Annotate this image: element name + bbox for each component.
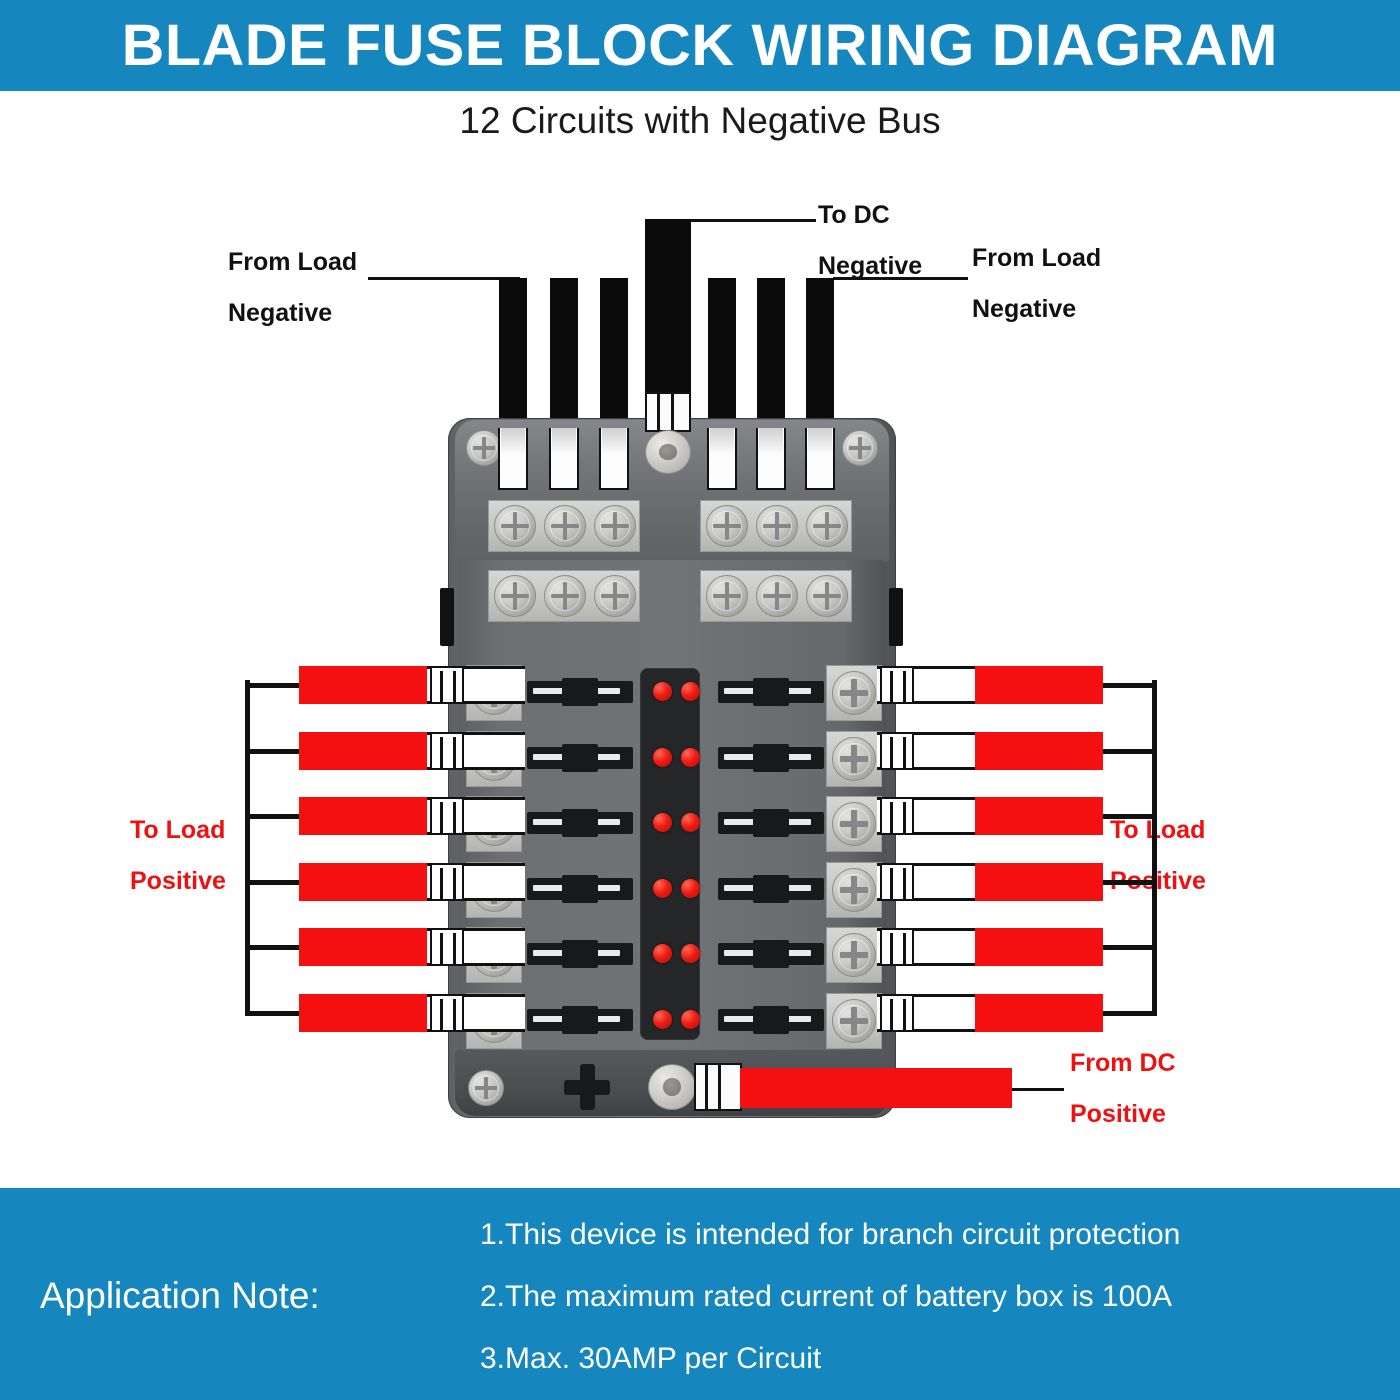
fuse-slot-left-3 [527,812,633,834]
dc-positive-ferrule [694,1063,742,1111]
lug-crimp-tick [453,802,456,834]
lug-crimp-tick [440,999,443,1031]
lug-crimp-tick [903,802,906,834]
screw-cross-vertical [851,876,856,905]
screw-cross-horizontal [840,756,869,761]
ferrule-band [718,1065,721,1109]
negative-bus-screw-r1-c2 [544,505,586,547]
screw-cross-horizontal [813,594,840,599]
fuse-slot-right-4 [718,878,824,900]
leader-line-from-load-right [833,277,968,280]
lug-crimp-tick [890,933,893,965]
lug-crimp-tick [440,933,443,965]
lug-crimp-tick [453,933,456,965]
load-wire-lug-right-5 [880,928,914,966]
screw-cross-horizontal [551,594,578,599]
load-wire-lug-right-1 [880,666,914,704]
load-wire-red-left-2 [299,732,429,770]
screw-cross-vertical [484,1077,487,1099]
lug-crimp-tick [890,999,893,1031]
screw-cross-horizontal [601,594,628,599]
lug-crimp-tick [890,868,893,900]
fuse-blade-contact [724,1016,756,1022]
lug-crimp-tick [903,737,906,769]
screw-cross-horizontal [840,690,869,695]
fuse-slot-left-1 [527,681,633,703]
screw-cross-vertical [513,512,518,539]
led-indicator-r1-1 [653,682,672,701]
stud-hole [659,444,677,461]
negative-bus-screw-r2-c6 [806,575,848,617]
screw-cross-vertical [851,679,856,708]
mounting-screw-bottom-left [468,1070,504,1106]
load-branch-line-right-5 [1101,945,1157,950]
fuse-blade-contact [533,885,565,891]
label-line-2: Negative [972,294,1101,325]
fuse-terminal-screw-right-5 [832,933,876,977]
screw-cross-horizontal [501,594,528,599]
negative-bus-screw-r2-c1 [494,575,536,617]
load-bus-line-right [1152,680,1157,1013]
label-from-load-negative-left: From Load Negative [228,247,357,328]
application-note-item: 3.Max. 30AMP per Circuit [480,1342,1380,1376]
lug-crimp-tick [453,999,456,1031]
label-line-2: Positive [130,866,226,897]
negative-bus-screw-r1-c1 [494,505,536,547]
lug-crimp-tick [440,802,443,834]
ferrule-band [657,394,660,430]
load-branch-line-left-2 [245,749,301,754]
lug-crimp-tick [453,671,456,703]
label-to-dc-negative: To DC Negative [818,200,922,281]
screw-cross-vertical [563,512,568,539]
load-wire-lug-right-6 [880,994,914,1032]
load-wire-lug-left-4 [430,863,464,901]
fuse-blade-contact [724,819,756,825]
load-wire-lug-left-1 [430,666,464,704]
fuse-blade-contact [724,950,756,956]
load-branch-line-right-2 [1101,749,1157,754]
lug-crimp-tick [903,671,906,703]
lug-crimp-tick [440,737,443,769]
screw-cross-horizontal [501,524,528,529]
load-wire-red-right-5 [973,928,1103,966]
fuse-slot-right-3 [718,812,824,834]
fuse-blade-contact [533,819,565,825]
fuse-blade-contact [533,1016,565,1022]
stud-hole [663,1078,681,1096]
lug-crimp-tick [453,737,456,769]
label-line-1: From DC [1070,1048,1176,1079]
fuse-blade-contact [724,754,756,760]
lug-crimp-tick [890,737,893,769]
load-wire-red-right-3 [973,797,1103,835]
lug-crimp-tick [440,671,443,703]
load-wire-lug-left-6 [430,994,464,1032]
screw-cross-horizontal [840,887,869,892]
load-wire-red-right-6 [973,994,1103,1032]
fuse-terminal-screw-right-2 [832,737,876,781]
load-branch-line-left-5 [245,945,301,950]
application-note-list: 1.This device is intended for branch cir… [480,1218,1380,1400]
screw-cross-vertical [513,582,518,609]
label-line-1: To Load [130,815,226,846]
fuse-blade-contact [533,950,565,956]
mounting-screw-top-right [842,430,878,466]
led-indicator-r3-2 [681,813,700,832]
label-line-1: To Load [1110,815,1206,846]
screw-cross-horizontal [813,524,840,529]
housing-side-tab-right [889,588,903,646]
load-branch-line-left-6 [245,1011,301,1016]
led-indicator-r2-1 [653,748,672,767]
screw-cross-vertical [851,745,856,774]
screw-cross-vertical [851,1007,856,1036]
label-line-2: Negative [228,298,357,329]
led-indicator-r1-2 [681,682,700,701]
screw-cross-horizontal [601,524,628,529]
fuse-blade-contact [533,754,565,760]
lug-crimp-tick [890,802,893,834]
fuse-slot-left-6 [527,1009,633,1031]
load-branch-line-left-1 [245,683,301,688]
negative-bus-screw-r2-c2 [544,575,586,617]
negative-wire-ferrule-3 [599,428,629,490]
load-wire-red-left-3 [299,797,429,835]
fuse-slot-lip [562,678,598,706]
label-line-1: From Load [972,243,1101,274]
fuse-slot-lip [753,809,789,837]
page-title: BLADE FUSE BLOCK WIRING DIAGRAM [122,12,1278,79]
fuse-slot-lip [753,875,789,903]
negative-wire-ferrule-6 [805,428,835,490]
led-indicator-strip [640,668,700,1040]
dc-negative-cable [645,219,691,396]
negative-bus-screw-r1-c6 [806,505,848,547]
load-wire-red-left-1 [299,666,429,704]
label-from-load-negative-right: From Load Negative [972,243,1101,324]
fuse-slot-left-2 [527,747,633,769]
screw-cross-horizontal [713,594,740,599]
fuse-slot-left-4 [527,878,633,900]
dc-negative-stud [645,430,691,474]
screw-cross-vertical [613,582,618,609]
label-line-2: Positive [1070,1099,1176,1130]
load-wire-red-left-4 [299,863,429,901]
fuse-blade-contact [724,688,756,694]
dc-positive-cable [740,1068,1012,1108]
mounting-screw-top-left [466,430,502,466]
negative-wire-ferrule-4 [707,428,737,490]
lug-crimp-tick [903,933,906,965]
screw-cross-horizontal [475,1086,497,1089]
fuse-terminal-screw-right-6 [832,999,876,1043]
lug-crimp-tick [903,999,906,1031]
fuse-slot-lip [562,1006,598,1034]
screw-cross-vertical [825,512,830,539]
screw-cross-vertical [851,941,856,970]
load-wire-lug-left-2 [430,732,464,770]
fuse-terminal-screw-right-4 [832,868,876,912]
load-branch-line-left-3 [245,814,301,819]
screw-cross-horizontal [763,594,790,599]
load-branch-line-right-3 [1101,814,1157,819]
ferrule-band [705,1065,708,1109]
screw-cross-vertical [725,582,730,609]
lug-crimp-tick [903,868,906,900]
led-indicator-r3-1 [653,813,672,832]
screw-cross-horizontal [840,952,869,957]
screw-cross-vertical [825,582,830,609]
negative-bus-screw-r1-c3 [594,505,636,547]
screw-cross-vertical [613,512,618,539]
screw-cross-horizontal [763,524,790,529]
screw-cross-vertical [563,582,568,609]
negative-bus-screw-r2-c3 [594,575,636,617]
plus-vertical [580,1064,595,1110]
fuse-slot-right-2 [718,747,824,769]
screw-cross-horizontal [473,446,495,449]
load-wire-red-left-6 [299,994,429,1032]
screw-cross-horizontal [551,524,578,529]
load-branch-line-right-1 [1101,683,1157,688]
lug-crimp-tick [440,868,443,900]
load-wire-red-left-5 [299,928,429,966]
load-wire-red-right-1 [973,666,1103,704]
load-wire-lug-right-3 [880,797,914,835]
load-wire-lug-left-5 [430,928,464,966]
negative-bus-screw-r2-c4 [706,575,748,617]
fuse-slot-right-5 [718,943,824,965]
load-wire-red-right-4 [973,863,1103,901]
load-wire-lug-right-4 [880,863,914,901]
led-indicator-r2-2 [681,748,700,767]
screw-cross-vertical [482,437,485,459]
negative-bus-screw-r2-c5 [756,575,798,617]
screw-cross-horizontal [840,821,869,826]
negative-wire-ferrule-1 [498,428,528,490]
header-banner: BLADE FUSE BLOCK WIRING DIAGRAM [0,0,1400,91]
application-note-item: 2.The maximum rated current of battery b… [480,1280,1380,1314]
screw-cross-horizontal [713,524,740,529]
screw-cross-vertical [775,582,780,609]
led-indicator-r6-1 [653,1010,672,1029]
label-line-1: From Load [228,247,357,278]
leader-line-from-load-left [368,277,520,280]
leader-line-to-dc-negative [688,219,816,222]
led-indicator-r5-1 [653,944,672,963]
screw-cross-vertical [851,810,856,839]
lug-crimp-tick [890,671,893,703]
fuse-terminal-screw-right-3 [832,802,876,846]
negative-bus-screw-r1-c5 [756,505,798,547]
led-indicator-r4-1 [653,879,672,898]
negative-wire-ferrule-2 [549,428,579,490]
fuse-slot-right-1 [718,681,824,703]
housing-side-tab-left [440,588,454,646]
negative-wire-ferrule-5 [756,428,786,490]
load-wire-lug-right-2 [880,732,914,770]
load-branch-line-right-4 [1101,880,1157,885]
screw-cross-horizontal [849,446,871,449]
fuse-blade-contact [533,688,565,694]
led-indicator-r6-2 [681,1010,700,1029]
screw-cross-vertical [858,437,861,459]
dc-positive-stud [648,1064,696,1110]
diagram-page: BLADE FUSE BLOCK WIRING DIAGRAM 12 Circu… [0,0,1400,1400]
dc-negative-ferrule [645,392,691,432]
led-indicator-r4-2 [681,879,700,898]
led-indicator-r5-2 [681,944,700,963]
screw-cross-vertical [725,512,730,539]
application-note-item: 1.This device is intended for branch cir… [480,1218,1380,1252]
lug-crimp-tick [453,868,456,900]
ferrule-band [671,394,674,430]
application-note-label: Application Note: [40,1275,460,1317]
screw-cross-vertical [775,512,780,539]
load-branch-line-left-4 [245,880,301,885]
fuse-slot-lip [753,744,789,772]
fuse-terminal-screw-right-1 [832,671,876,715]
fuse-slot-lip [753,1006,789,1034]
fuse-slot-lip [753,940,789,968]
fuse-blade-contact [724,885,756,891]
load-branch-line-right-6 [1101,1011,1157,1016]
fuse-slot-left-5 [527,943,633,965]
leader-line-from-dc-positive [1012,1088,1064,1091]
load-bus-line-left [245,680,250,1013]
load-wire-lug-left-3 [430,797,464,835]
screw-cross-horizontal [840,1018,869,1023]
label-to-load-positive-left: To Load Positive [130,815,226,896]
fuse-slot-lip [562,940,598,968]
positive-polarity-mark [564,1064,610,1110]
negative-bus-screw-r1-c4 [706,505,748,547]
label-from-dc-positive: From DC Positive [1070,1048,1176,1129]
fuse-slot-right-6 [718,1009,824,1031]
fuse-slot-lip [562,809,598,837]
fuse-slot-lip [753,678,789,706]
fuse-slot-lip [562,875,598,903]
label-line-1: To DC [818,200,922,231]
fuse-slot-lip [562,744,598,772]
load-wire-red-right-2 [973,732,1103,770]
page-subtitle: 12 Circuits with Negative Bus [0,100,1400,142]
